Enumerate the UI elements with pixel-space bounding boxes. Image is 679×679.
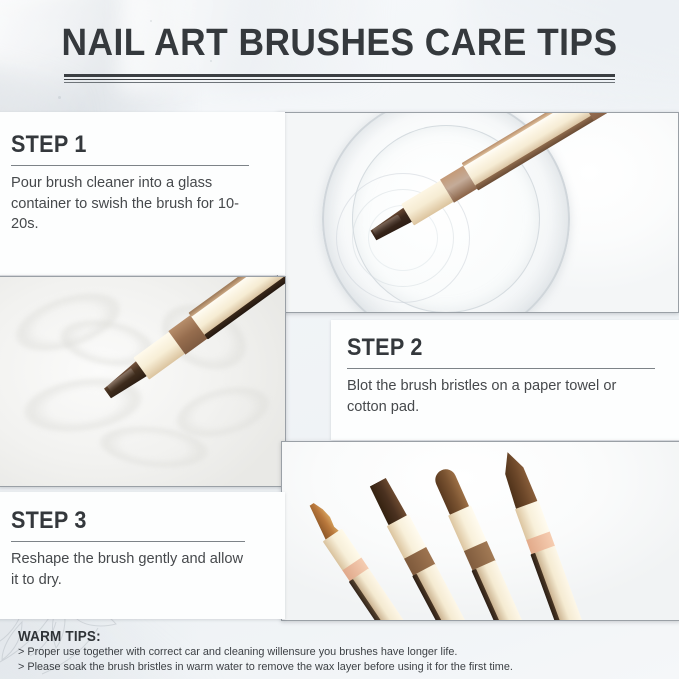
step-3-heading: STEP 3 xyxy=(11,508,222,534)
step-3-body: Reshape the brush gently and allow it to… xyxy=(11,549,245,590)
step-2-heading: STEP 2 xyxy=(347,335,624,361)
step-3-photo xyxy=(281,441,679,621)
warm-tip-item: > Please soak the brush bristles in warm… xyxy=(18,660,639,675)
step-2-divider xyxy=(347,368,655,369)
step-3-card: STEP 3 Reshape the brush gently and allo… xyxy=(0,492,285,619)
title-underline xyxy=(64,74,615,83)
step-1-divider xyxy=(11,165,249,166)
step-2-body: Blot the brush bristles on a paper towel… xyxy=(347,376,655,417)
warm-tip-item: > Proper use together with correct car a… xyxy=(18,645,639,660)
step-2-card: STEP 2 Blot the brush bristles on a pape… xyxy=(331,320,679,440)
page-title-wrap: NAIL ART BRUSHES CARE TIPS xyxy=(0,22,679,64)
infographic-poster: NAIL ART BRUSHES CARE TIPS xyxy=(0,0,679,679)
step-1-photo xyxy=(277,112,679,313)
step-1-heading: STEP 1 xyxy=(11,132,225,158)
texture-speck xyxy=(58,96,61,99)
warm-tips-section: WARM TIPS: > Proper use together with co… xyxy=(18,628,658,674)
step-2-photo xyxy=(0,276,286,487)
step-1-card: STEP 1 Pour brush cleaner into a glass c… xyxy=(0,112,285,275)
page-title: NAIL ART BRUSHES CARE TIPS xyxy=(24,22,655,64)
step-3-divider xyxy=(11,541,245,542)
warm-tips-heading: WARM TIPS: xyxy=(18,628,594,645)
step-1-body: Pour brush cleaner into a glass containe… xyxy=(11,173,249,235)
